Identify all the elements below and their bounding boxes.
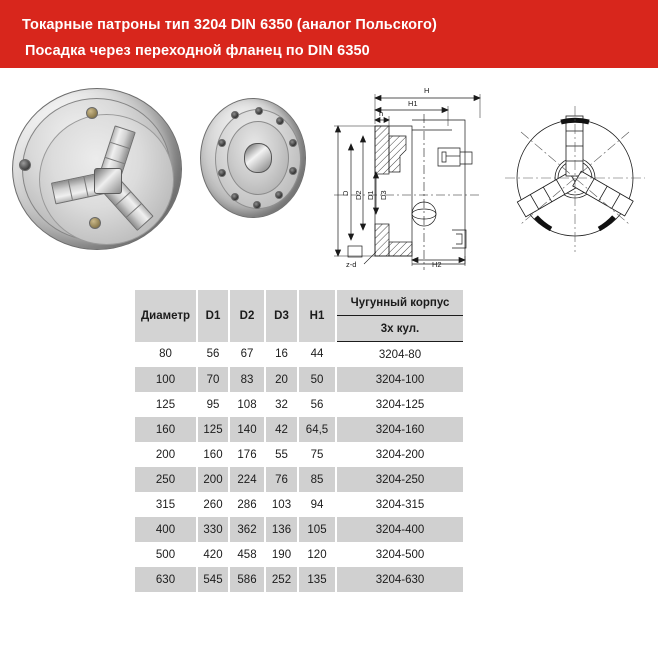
cell-d1: 95 [197, 392, 229, 417]
front-view-svg [495, 92, 655, 260]
cell-diameter: 500 [135, 542, 197, 567]
cell-d2: 286 [229, 492, 265, 517]
table-body: 80 56 67 16 44 3204-80 100 70 83 20 50 3… [135, 342, 463, 593]
cell-h1: 44 [298, 342, 336, 368]
column-subheader-jaws: 3х кул. [336, 316, 463, 342]
cell-d2: 176 [229, 442, 265, 467]
dim-label-H: H [424, 86, 429, 95]
table-header-row: Диаметр D1 D2 D3 H1 Чугунный корпус [135, 290, 463, 316]
dim-label-D2: D2 [354, 190, 363, 200]
chuck-face [39, 114, 174, 245]
cell-body: 3204-80 [336, 342, 463, 368]
cell-h1: 85 [298, 467, 336, 492]
cell-body: 3204-315 [336, 492, 463, 517]
front-view-drawing [495, 92, 655, 260]
flange-bolt [231, 111, 239, 119]
cell-diameter: 400 [135, 517, 197, 542]
cell-d2: 67 [229, 342, 265, 368]
section-drawing: H H1 h D D2 D1 D3 z-d H2 [320, 74, 496, 272]
flange-bolt [289, 167, 297, 175]
table-row: 500 420 458 190 120 3204-500 [135, 542, 463, 567]
header-banner: Токарные патроны тип 3204 DIN 6350 (анал… [0, 0, 658, 68]
flange-bolt [218, 139, 226, 147]
cell-body: 3204-125 [336, 392, 463, 417]
cell-h1: 135 [298, 567, 336, 592]
cell-d1: 260 [197, 492, 229, 517]
cell-d1: 56 [197, 342, 229, 368]
cell-diameter: 630 [135, 567, 197, 592]
banner-title-line-1: Токарные патроны тип 3204 DIN 6350 (анал… [22, 17, 437, 33]
cell-h1: 120 [298, 542, 336, 567]
cell-body: 3204-630 [336, 567, 463, 592]
cell-d3: 136 [265, 517, 298, 542]
cell-d3: 76 [265, 467, 298, 492]
cell-diameter: 315 [135, 492, 197, 517]
table-row: 80 56 67 16 44 3204-80 [135, 342, 463, 368]
table-row: 630 545 586 252 135 3204-630 [135, 567, 463, 592]
cell-d2: 362 [229, 517, 265, 542]
chuck-center-boss [94, 168, 122, 194]
cell-d2: 586 [229, 567, 265, 592]
column-header-body: Чугунный корпус [336, 290, 463, 316]
cell-diameter: 100 [135, 367, 197, 392]
cell-diameter: 80 [135, 342, 197, 368]
chuck-photo-rear [200, 98, 312, 233]
chuck-rear-bore [244, 143, 272, 173]
dim-label-D: D [341, 191, 350, 196]
cell-d3: 55 [265, 442, 298, 467]
specification-table: Диаметр D1 D2 D3 H1 Чугунный корпус 3х к… [135, 290, 463, 592]
cell-d3: 20 [265, 367, 298, 392]
dim-label-h: h [379, 109, 383, 118]
cell-h1: 75 [298, 442, 336, 467]
cell-d2: 458 [229, 542, 265, 567]
cell-h1: 56 [298, 392, 336, 417]
table-row: 315 260 286 103 94 3204-315 [135, 492, 463, 517]
flange-bolt [231, 193, 239, 201]
cell-diameter: 160 [135, 417, 197, 442]
chuck-key-socket [89, 217, 101, 229]
cell-d1: 545 [197, 567, 229, 592]
dim-label-H1: H1 [408, 99, 418, 108]
table-row: 400 330 362 136 105 3204-400 [135, 517, 463, 542]
cell-body: 3204-100 [336, 367, 463, 392]
cell-d2: 108 [229, 392, 265, 417]
cell-d1: 125 [197, 417, 229, 442]
column-header-d2: D2 [229, 290, 265, 342]
column-header-d3: D3 [265, 290, 298, 342]
flange-bolt [276, 117, 284, 125]
product-spec-page: { "banner": { "line1": "Токарные патроны… [0, 0, 658, 658]
table-row: 160 125 140 42 64,5 3204-160 [135, 417, 463, 442]
cell-d1: 330 [197, 517, 229, 542]
cell-d1: 200 [197, 467, 229, 492]
cell-body: 3204-200 [336, 442, 463, 467]
flange-bolt [218, 169, 226, 177]
dim-label-H2: H2 [432, 260, 442, 269]
cell-d1: 160 [197, 442, 229, 467]
cell-diameter: 125 [135, 392, 197, 417]
chuck-photo-front [12, 82, 194, 254]
column-header-h1: H1 [298, 290, 336, 342]
cell-d3: 16 [265, 342, 298, 368]
chuck-rear-body [200, 98, 306, 218]
chuck-key-socket [86, 107, 98, 119]
table-row: 250 200 224 76 85 3204-250 [135, 467, 463, 492]
dim-label-D3: D3 [379, 190, 388, 200]
dim-label-zd: z-d [346, 260, 356, 269]
cell-body: 3204-400 [336, 517, 463, 542]
cell-d3: 190 [265, 542, 298, 567]
column-header-diameter: Диаметр [135, 290, 197, 342]
cell-d3: 252 [265, 567, 298, 592]
table-row: 125 95 108 32 56 3204-125 [135, 392, 463, 417]
cell-d3: 103 [265, 492, 298, 517]
cell-diameter: 200 [135, 442, 197, 467]
figures-strip: H H1 h D D2 D1 D3 z-d H2 [0, 70, 658, 275]
dim-label-D1: D1 [366, 190, 375, 200]
chuck-body [12, 88, 182, 250]
table-row: 200 160 176 55 75 3204-200 [135, 442, 463, 467]
cell-d1: 70 [197, 367, 229, 392]
cell-h1: 64,5 [298, 417, 336, 442]
flange-bolt [255, 107, 263, 115]
flange-bolt [275, 191, 283, 199]
column-header-d1: D1 [197, 290, 229, 342]
table-row: 100 70 83 20 50 3204-100 [135, 367, 463, 392]
cell-d2: 83 [229, 367, 265, 392]
cell-d2: 224 [229, 467, 265, 492]
chuck-key-socket [19, 159, 31, 171]
cell-h1: 50 [298, 367, 336, 392]
cell-d1: 420 [197, 542, 229, 567]
cell-diameter: 250 [135, 467, 197, 492]
cell-body: 3204-160 [336, 417, 463, 442]
cell-body: 3204-500 [336, 542, 463, 567]
cell-d2: 140 [229, 417, 265, 442]
cell-d3: 42 [265, 417, 298, 442]
cell-body: 3204-250 [336, 467, 463, 492]
banner-title-line-2: Посадка через переходной фланец по DIN 6… [25, 43, 370, 59]
flange-bolt [289, 139, 297, 147]
cell-d3: 32 [265, 392, 298, 417]
flange-bolt [253, 201, 261, 209]
cell-h1: 94 [298, 492, 336, 517]
cell-h1: 105 [298, 517, 336, 542]
